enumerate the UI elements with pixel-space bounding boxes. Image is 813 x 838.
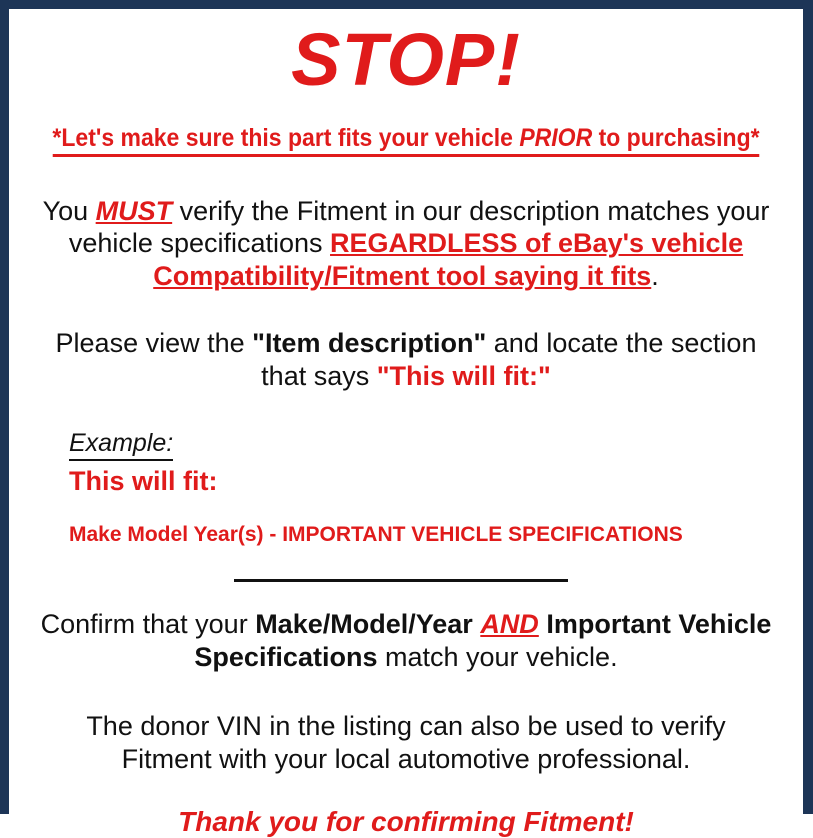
example-spec-line: Make Model Year(s) - IMPORTANT VEHICLE S… (69, 523, 791, 546)
confirm-segment-4: match your vehicle. (377, 642, 617, 672)
tagline-emphasis-prior: PRIOR (519, 124, 592, 152)
fitment-tagline: *Let's make sure this part fits your veh… (52, 125, 760, 157)
confirm-segment-1: Confirm that your (41, 609, 256, 639)
paragraph-donor-vin: The donor VIN in the listing can also be… (21, 710, 791, 776)
stop-headline: STOP! (21, 23, 791, 97)
tagline-prefix: *Let's make sure this part fits your veh… (52, 124, 519, 152)
this-will-fit-emphasis: "This will fit:" (377, 361, 551, 391)
item-description-emphasis: "Item description" (252, 328, 486, 358)
tagline-underlined-text: *Let's make sure this part fits your veh… (52, 125, 759, 157)
example-block: Example: This will fit: Make Model Year(… (21, 429, 791, 546)
example-fit-heading: This will fit: (69, 467, 791, 497)
view-segment-1: Please view the (56, 328, 253, 358)
must-segment-1: You (43, 196, 96, 226)
section-divider (234, 579, 568, 582)
must-segment-3: . (651, 261, 659, 291)
must-emphasis: MUST (96, 196, 173, 226)
paragraph-confirm-match: Confirm that your Make/Model/Year AND Im… (21, 608, 791, 674)
tagline-suffix: to purchasing* (592, 124, 759, 152)
fitment-notice-frame: STOP! *Let's make sure this part fits yo… (0, 0, 813, 814)
example-label: Example: (69, 429, 173, 461)
thank-you-message: Thank you for confirming Fitment! (21, 807, 791, 838)
notice-content-area: STOP! *Let's make sure this part fits yo… (9, 23, 803, 817)
paragraph-view-description: Please view the "Item description" and l… (21, 327, 791, 393)
and-emphasis: AND (480, 609, 539, 639)
paragraph-must-verify: You MUST verify the Fitment in our descr… (21, 195, 791, 294)
make-model-year-emphasis: Make/Model/Year (255, 609, 473, 639)
